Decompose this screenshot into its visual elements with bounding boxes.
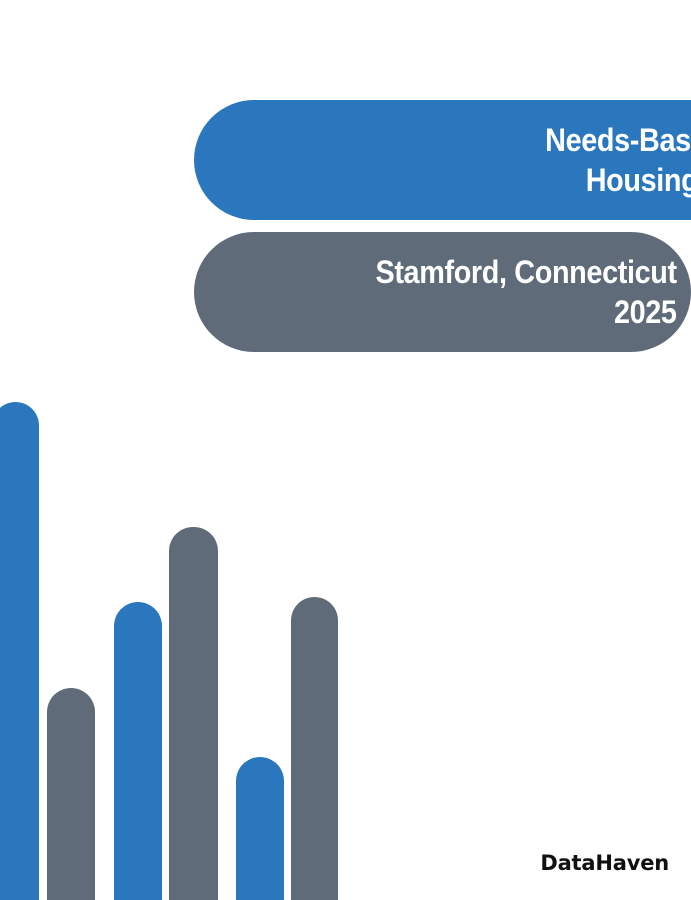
chart-bar	[236, 757, 284, 900]
subtitle-banner: Stamford, Connecticut 2025	[194, 232, 691, 352]
report-title-line-2: Housing Assessment	[586, 160, 691, 200]
chart-bar	[291, 597, 338, 900]
report-location: Stamford, Connecticut	[376, 252, 677, 292]
chart-bar	[47, 688, 95, 900]
chart-bar	[0, 402, 39, 900]
report-title-line-1: Needs-Based Affordable	[546, 120, 691, 160]
chart-bar	[169, 527, 218, 900]
report-year: 2025	[614, 292, 677, 332]
report-cover-page: Needs-Based Affordable Housing Assessmen…	[0, 0, 691, 900]
datahaven-logo: DataHaven	[540, 851, 669, 875]
title-banner: Needs-Based Affordable Housing Assessmen…	[194, 100, 691, 220]
chart-bar	[114, 602, 162, 900]
